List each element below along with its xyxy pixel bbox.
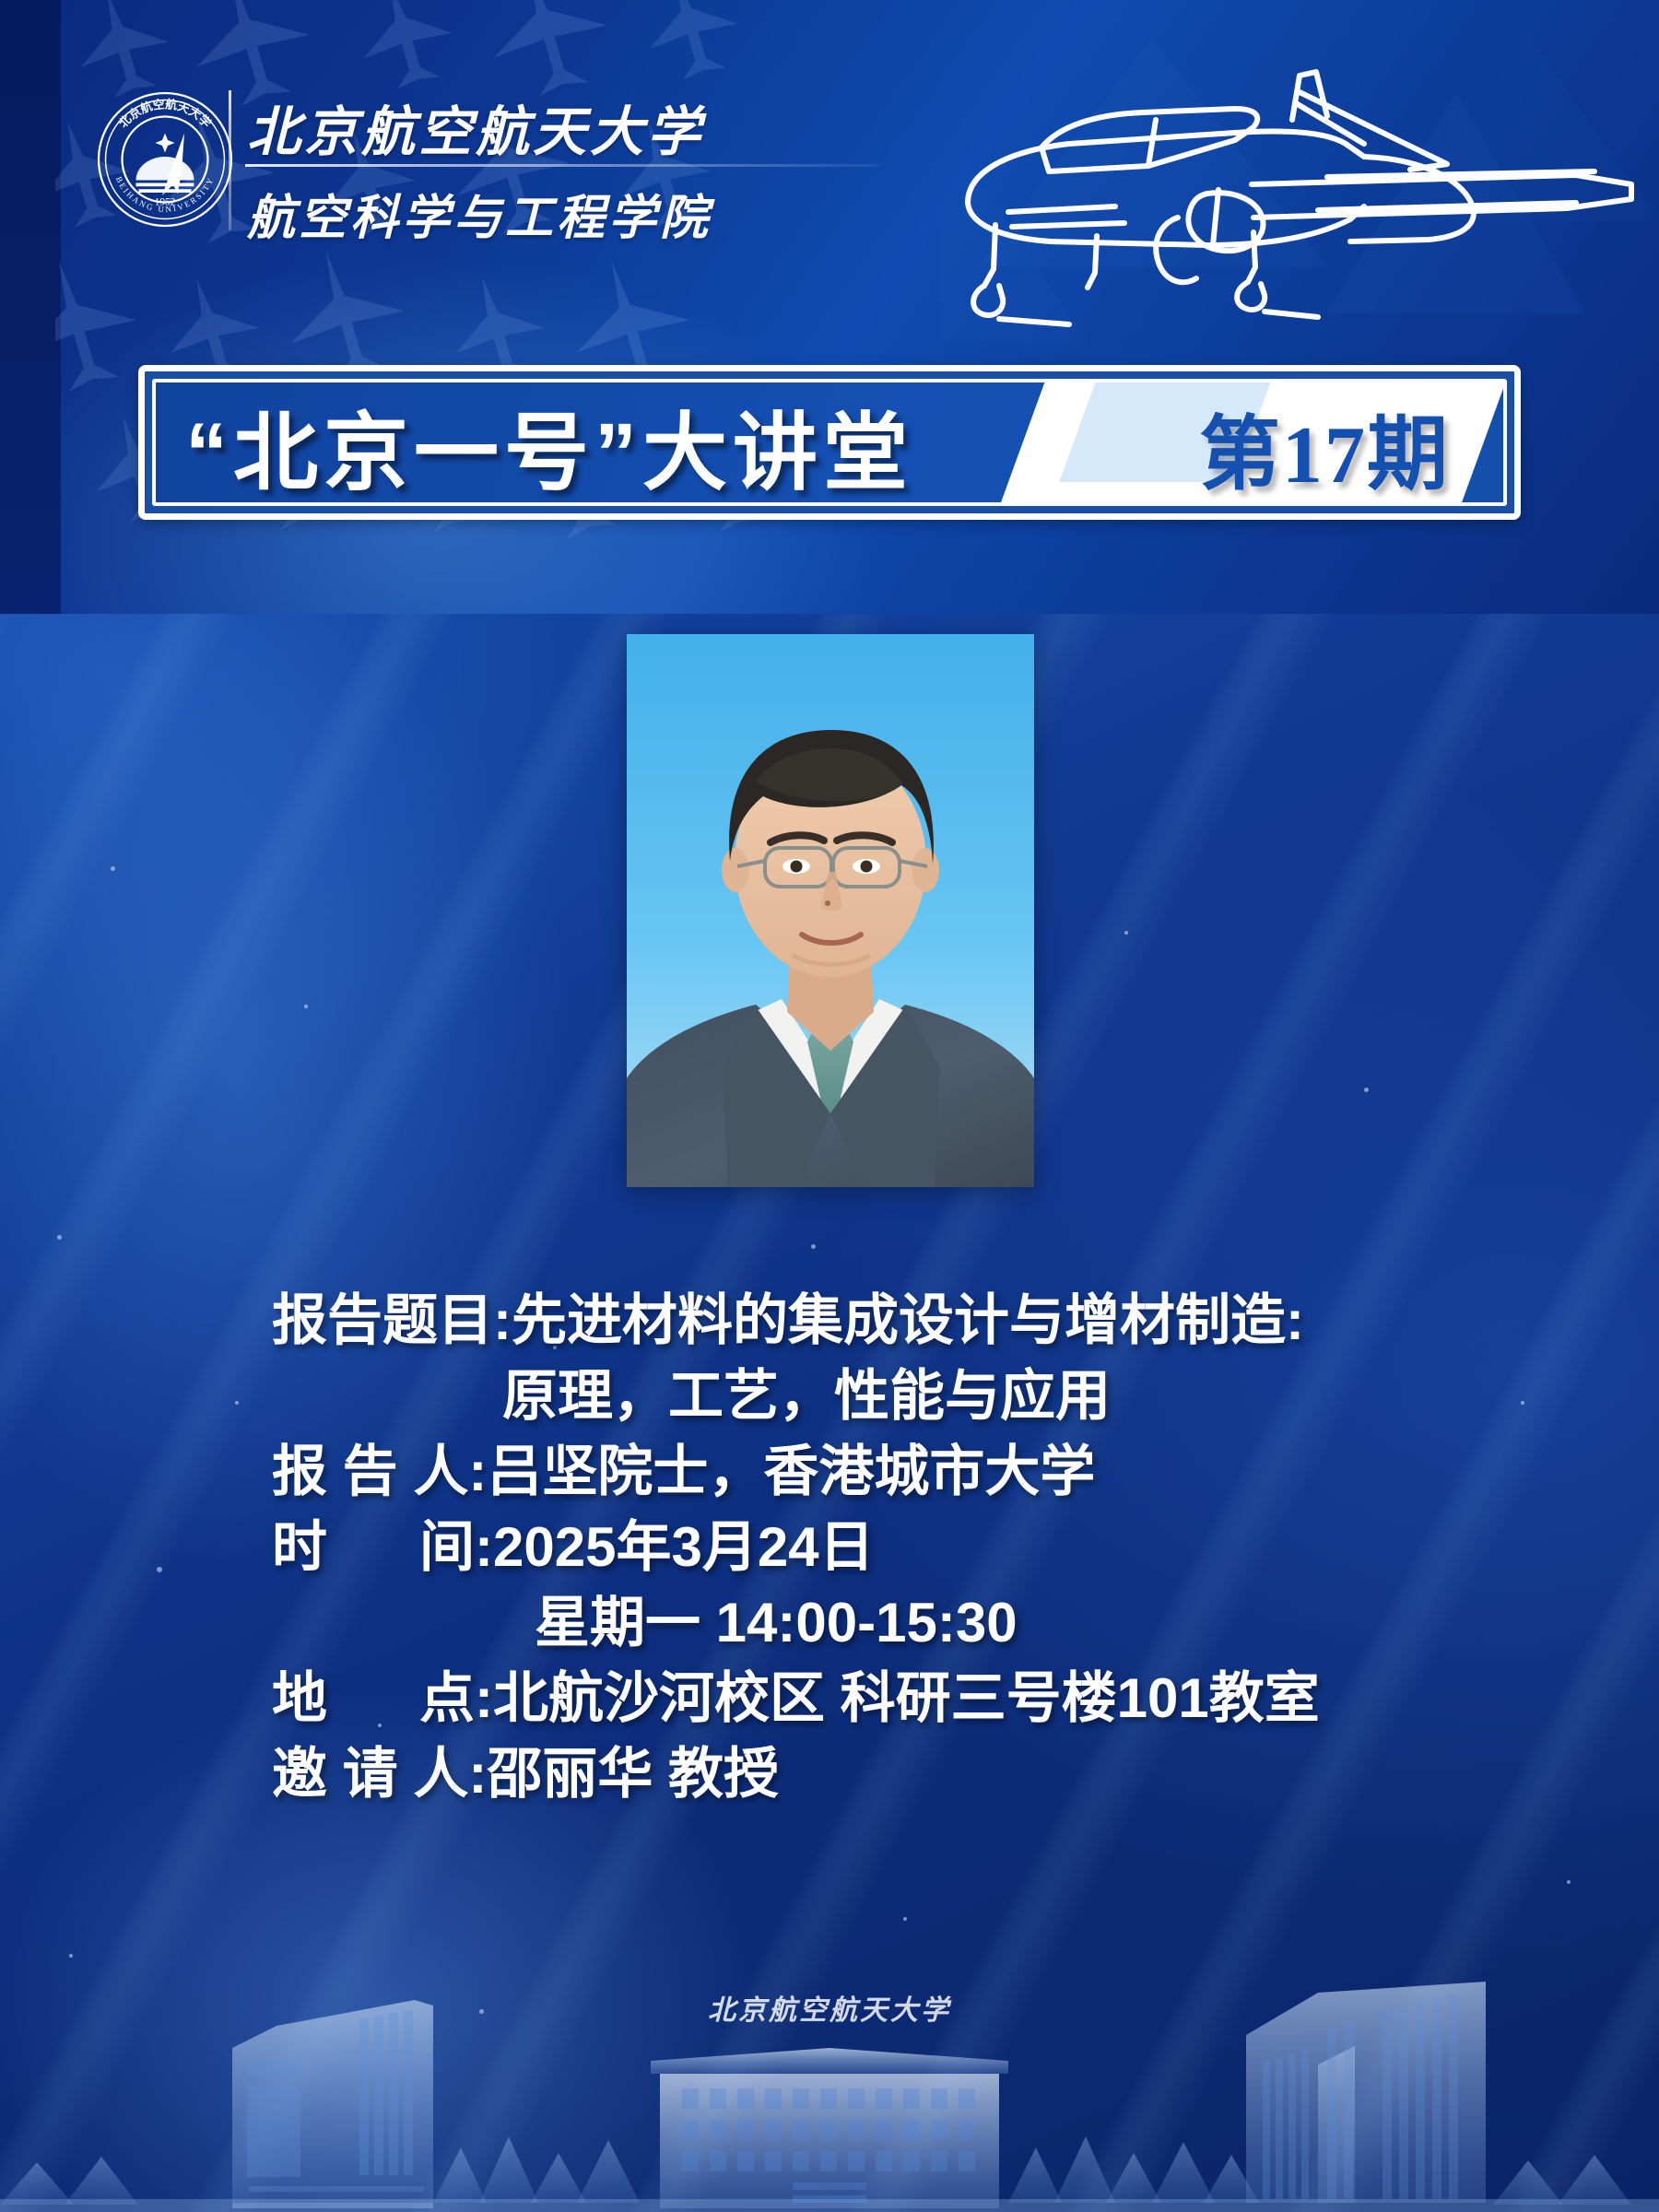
banner-issue-number: 第17期 (1199, 392, 1450, 502)
campus-skyline-illustration (0, 1972, 1659, 2212)
svg-text:BEIHANG UNIVERSITY: BEIHANG UNIVERSITY (114, 175, 216, 214)
detail-line-topic-cont: 原理，工艺，性能与应用 (0, 1359, 1659, 1434)
svg-text:1952: 1952 (155, 197, 176, 208)
beihang-university-logo-icon: 北京航空航天大学 BEIHANG UNIVERSITY 1952 (96, 90, 234, 229)
detail-line-topic: 报告题目:先进材料的集成设计与增材制造: (0, 1283, 1659, 1359)
detail-line-date: 时 间:2025年3月24日 (0, 1510, 1659, 1585)
detail-line-speaker: 报 告 人:吕坚院士，香港城市大学 (0, 1434, 1659, 1510)
detail-line-inviter: 邀 请 人:邵丽华 教授 (0, 1736, 1659, 1812)
header-vertical-divider (229, 90, 231, 230)
lecture-poster: 北京航空航天大学 BEIHANG UNIVERSITY 1952 北京航空航天大… (0, 0, 1659, 2212)
speaker-portrait-illustration (627, 634, 1034, 1187)
banner-title-text: “北京一号”大讲堂 (185, 390, 913, 500)
speaker-portrait (627, 634, 1034, 1187)
lecture-title-banner: “北京一号”大讲堂 第17期 (138, 365, 1521, 520)
campus-skyline (0, 1972, 1659, 2212)
poster-header: 北京航空航天大学 BEIHANG UNIVERSITY 1952 北京航空航天大… (0, 0, 1659, 614)
school-name: 航空科学与工程学院 (247, 179, 671, 240)
header-horizontal-rule (245, 164, 881, 167)
university-name: 北京航空航天大学 (247, 88, 634, 153)
detail-line-venue: 地 点:北航沙河校区 科研三号楼101教室 (0, 1661, 1659, 1736)
banner-outer-frame: “北京一号”大讲堂 第17期 (138, 365, 1521, 520)
detail-line-time: 星期一 14:00-15:30 (0, 1585, 1659, 1661)
beijing-no1-aircraft-icon (931, 55, 1659, 332)
header-left-navy-block (0, 0, 61, 614)
lecture-details-block: 报告题目:先进材料的集成设计与增材制造: 原理，工艺，性能与应用 报 告 人:吕… (0, 1283, 1659, 1812)
